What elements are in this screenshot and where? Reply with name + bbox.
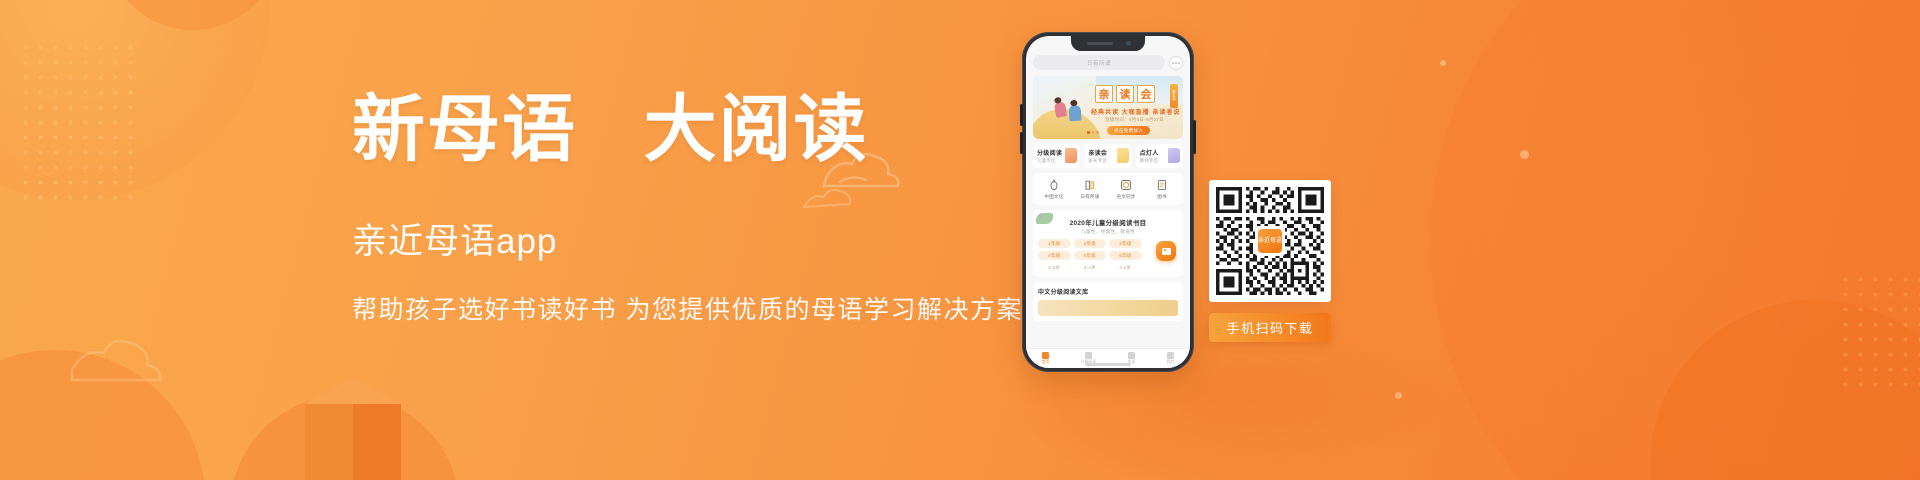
note-icon <box>1117 148 1129 163</box>
promo-banner: 新母语 大阅读 亲近母语app 帮助孩子选好书读好书 为您提供优质的母语学习解决… <box>0 0 1920 480</box>
grade-chip[interactable]: 4年级 <box>1038 251 1071 260</box>
quick-entry-chinese-culture[interactable]: 中国文化 <box>1037 179 1072 200</box>
decorative-cube <box>305 378 401 480</box>
phone-screen: 日有所诵 亲 读 会 报名中 <box>1026 36 1190 368</box>
tab-home[interactable]: 首页 <box>1042 352 1050 366</box>
qr-logo-text: 亲近母语 <box>1258 229 1282 253</box>
age-chip[interactable]: 3-4岁 <box>1074 263 1107 272</box>
grade-chip[interactable]: 3年级 <box>1109 239 1142 248</box>
hero-subtitle: 经典共读 大咖直播 亲读者说 <box>1091 107 1180 116</box>
phone-front-camera <box>1126 41 1131 46</box>
hero-title-char: 亲 <box>1095 85 1113 103</box>
booklist-section[interactable]: 2020年儿童分级阅读书目 儿童性、经典性、教育性 1年级 2年级 3年级 4年… <box>1033 210 1183 277</box>
grade-chip[interactable]: 2年级 <box>1074 239 1107 248</box>
book-icon <box>1155 179 1168 192</box>
sparkle-2 <box>1520 150 1529 159</box>
hero-cta-button[interactable]: 点击免费加入 <box>1107 126 1150 135</box>
quick-entry-textbook-sync[interactable]: 语文同步 <box>1109 179 1144 200</box>
lantern-icon <box>1047 179 1060 192</box>
quick-entry-daily-recite[interactable]: 日有所诵 <box>1073 179 1108 200</box>
banner-copy: 新母语 大阅读 亲近母语app 帮助孩子选好书读好书 为您提供优质的母语学习解决… <box>352 92 1012 326</box>
app-name-subtitle: 亲近母语app <box>352 213 1012 264</box>
leaf-decoration-icon <box>1036 213 1053 224</box>
open-book-icon <box>1083 179 1096 192</box>
decorative-dot-grid-left <box>18 40 140 205</box>
more-dots-icon[interactable] <box>1169 56 1183 70</box>
quick-entry-label: 日有所诵 <box>1080 194 1099 200</box>
search-row: 日有所诵 <box>1033 55 1183 70</box>
library-section[interactable]: 中文分级阅读文库 <box>1033 282 1183 321</box>
hero-title: 亲 读 会 <box>1095 85 1155 103</box>
sync-circle-icon <box>1119 179 1132 192</box>
quick-entry-label: 语文同步 <box>1116 194 1135 200</box>
quick-entry-icon-row: 中国文化 日有所诵 <box>1033 173 1183 205</box>
hero-side-tag: 报名中 <box>1170 84 1178 108</box>
headline-part-left: 新母语 <box>352 89 577 170</box>
nav-card-parent-club[interactable]: 亲读会 家长专区 <box>1084 144 1131 168</box>
qr-code: 亲近母语 <box>1209 180 1331 302</box>
reading-icon <box>1085 352 1092 359</box>
headline-part-right: 大阅读 <box>644 89 869 170</box>
age-chip[interactable]: 4-5岁 <box>1109 263 1142 272</box>
phone-speaker <box>1087 42 1113 45</box>
decorative-circle-right <box>1430 0 1920 480</box>
video-play-icon[interactable] <box>1156 241 1176 261</box>
tab-label: 我的 <box>1167 360 1175 365</box>
carousel-dots[interactable] <box>1087 131 1099 134</box>
booklist-subtitle: 儿童性、经典性、教育性 <box>1038 229 1178 235</box>
grade-chip[interactable]: 6年级 <box>1109 251 1142 260</box>
phone-volume-down-button <box>1020 132 1023 154</box>
qr-download-block: 亲近母语 手机扫码下载 <box>1209 180 1331 342</box>
book-stack-icon <box>1065 148 1077 163</box>
hero-child-illustration-1 <box>1054 101 1067 118</box>
user-icon <box>1167 352 1174 359</box>
hero-title-char: 读 <box>1116 85 1134 103</box>
phone-power-button <box>1193 120 1196 154</box>
sparkle-1 <box>1440 60 1446 66</box>
app-home-screen: 日有所诵 亲 读 会 报名中 <box>1026 36 1190 368</box>
nav-card-graded-reading[interactable]: 分级阅读 儿童专区 <box>1033 144 1080 168</box>
decorative-circle-top-left-2 <box>105 0 280 30</box>
grade-chip-grid: 1年级 2年级 3年级 4年级 5年级 6年级 0-3岁 3-4岁 4-5岁 <box>1038 239 1142 272</box>
cube-left-face <box>305 404 353 480</box>
quick-entry-label: 图书 <box>1157 194 1167 200</box>
hero-date: 直播时间：9月6日-9月27日 <box>1105 117 1164 123</box>
grade-chip[interactable]: 5年级 <box>1074 251 1107 260</box>
tab-label: 首页 <box>1042 360 1050 365</box>
download-button[interactable]: 手机扫码下载 <box>1209 313 1331 342</box>
grade-chip[interactable]: 1年级 <box>1038 239 1071 248</box>
search-placeholder: 日有所诵 <box>1087 59 1111 67</box>
cube-right-face <box>353 404 401 480</box>
library-title: 中文分级阅读文库 <box>1038 287 1178 296</box>
home-icon <box>1042 352 1049 359</box>
page-title: 新母语 大阅读 <box>352 92 1012 169</box>
age-chip[interactable]: 0-3岁 <box>1038 263 1071 272</box>
quick-entry-label: 中国文化 <box>1044 194 1063 200</box>
qr-code-pattern: 亲近母语 <box>1216 187 1324 295</box>
phone-volume-up-button <box>1020 104 1023 126</box>
phone-mockup: 日有所诵 亲 读 会 报名中 <box>1022 32 1194 372</box>
sparkle-3 <box>1395 392 1402 399</box>
booklist-title: 2020年儿童分级阅读书目 <box>1038 217 1178 227</box>
hero-child-illustration-2 <box>1068 105 1081 122</box>
hero-banner[interactable]: 亲 读 会 报名中 经典共读 大咖直播 亲读者说 直播时间：9月6日-9月27日… <box>1033 76 1183 139</box>
library-cover-strip <box>1038 300 1178 316</box>
decorative-dot-grid-right <box>1838 272 1920 397</box>
search-input[interactable]: 日有所诵 <box>1033 55 1165 70</box>
cloud-motif-3 <box>66 330 176 382</box>
phone-notch <box>1071 36 1145 51</box>
banner-tagline: 帮助孩子选好书读好书 为您提供优质的母语学习解决方案 <box>352 290 1012 326</box>
hero-title-char: 会 <box>1137 85 1155 103</box>
compass-icon <box>1128 352 1135 359</box>
qr-logo-badge: 亲近母语 <box>1255 226 1285 256</box>
person-icon <box>1168 148 1180 163</box>
nav-card-row: 分级阅读 儿童专区 亲读会 家长专区 点灯人 教师专区 <box>1033 144 1183 168</box>
nav-card-teacher[interactable]: 点灯人 教师专区 <box>1136 144 1183 168</box>
tab-profile[interactable]: 我的 <box>1167 352 1175 366</box>
cube-top-face <box>305 378 401 404</box>
quick-entry-books[interactable]: 图书 <box>1145 179 1180 200</box>
